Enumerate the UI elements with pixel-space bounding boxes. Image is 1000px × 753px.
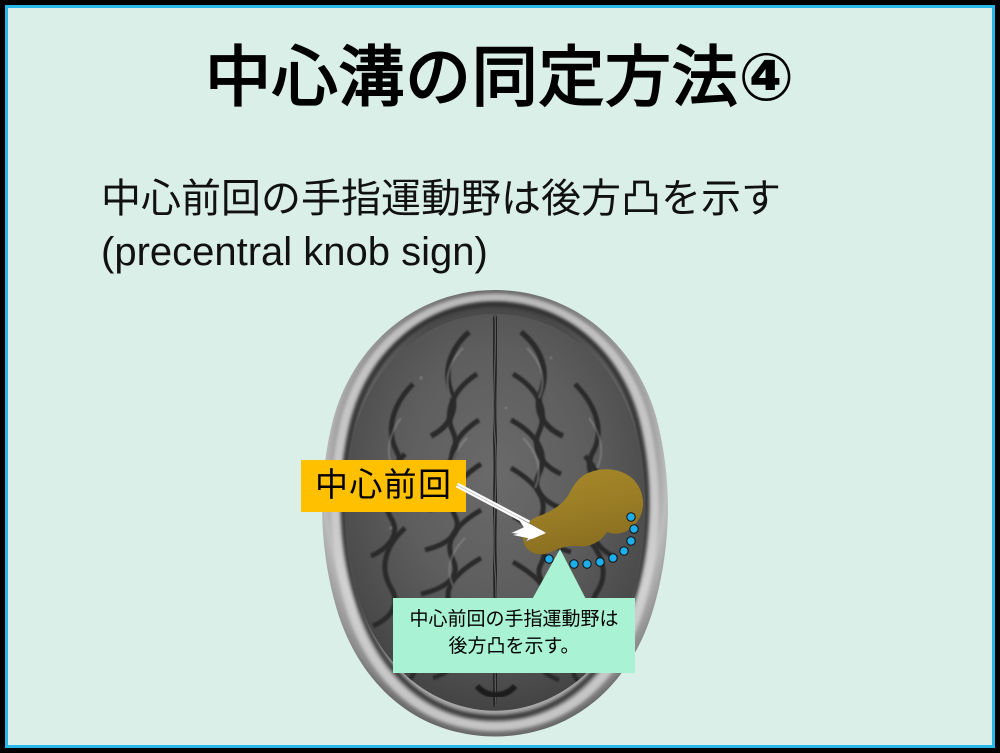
subtitle: 中心前回の手指運動野は後方凸を示す (precentral knob sign) xyxy=(101,173,921,279)
subtitle-line-1: 中心前回の手指運動野は後方凸を示す xyxy=(101,177,781,221)
speech-callout-tail xyxy=(393,549,635,605)
speech-line-1: 中心前回の手指運動野は xyxy=(399,607,629,634)
page-title: 中心溝の同定方法④ xyxy=(5,43,995,112)
subtitle-line-2: (precentral knob sign) xyxy=(101,226,921,279)
slide-canvas: 中心溝の同定方法④ 中心前回の手指運動野は後方凸を示す (precentral … xyxy=(0,0,1000,753)
precentral-gyrus-label[interactable]: 中心前回 xyxy=(301,460,466,512)
speech-line-2: 後方凸を示す。 xyxy=(399,634,629,661)
speech-callout[interactable]: 中心前回の手指運動野は 後方凸を示す。 xyxy=(393,598,635,673)
